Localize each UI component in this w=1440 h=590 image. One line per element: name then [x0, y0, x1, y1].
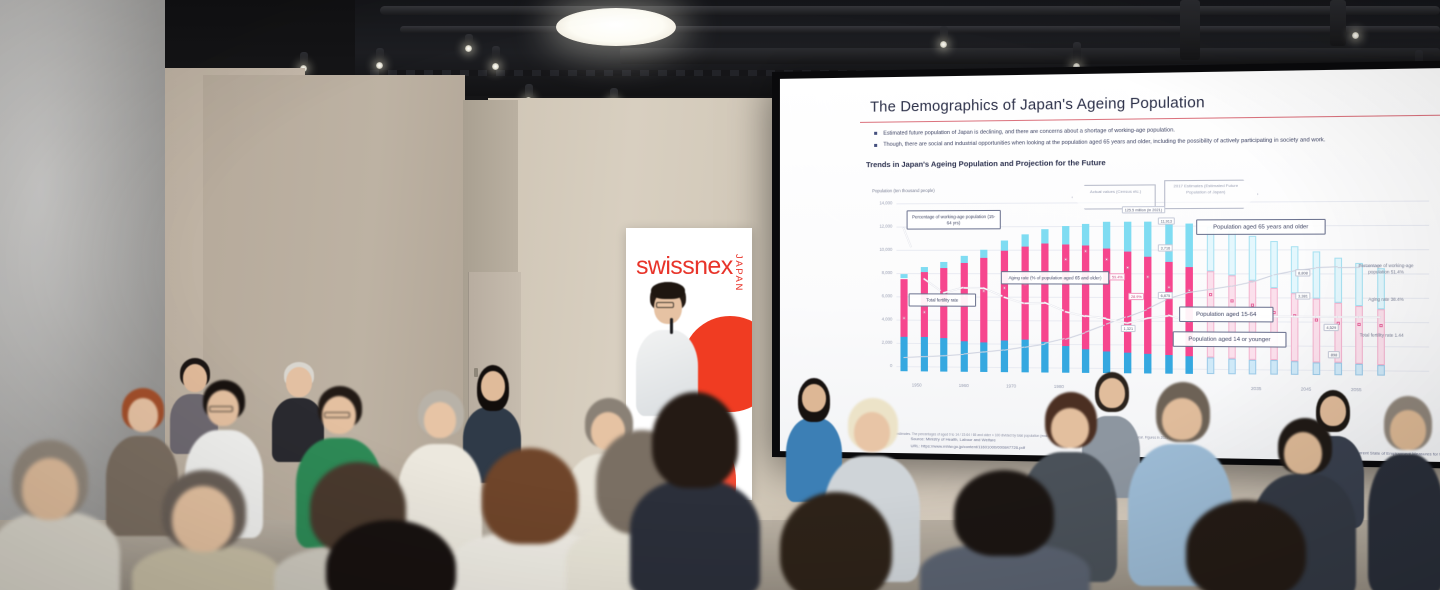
bar-segment-working-age: [1041, 244, 1048, 342]
bar-segment-65-and-older: [1062, 226, 1069, 244]
bar-segment-working-age: [1144, 257, 1151, 354]
conference-room-photo: The Demographics of Japan's Ageing Popul…: [0, 0, 1440, 590]
chart-bar: [981, 249, 988, 372]
track-light-body: [940, 26, 948, 42]
working-age-share-marker: [1167, 286, 1170, 289]
working-age-share-marker: [1105, 258, 1108, 261]
population-chart: Population (ten thousand people) 0 2,000…: [858, 193, 1429, 399]
y-tick: 10,000: [858, 247, 892, 252]
bar-segment-young: [1313, 362, 1321, 375]
callout-aging-rate: Aging rate (% of population aged 65 and …: [1001, 271, 1109, 285]
bar-segment-young: [1062, 346, 1069, 373]
ceiling-pipe: [380, 6, 1440, 15]
chart-bar: [1062, 226, 1069, 372]
bar-segment-young: [960, 342, 967, 372]
bar-segment-young: [900, 337, 907, 371]
tag-old-2065: 3,381: [1295, 292, 1310, 300]
glasses-icon: [324, 412, 350, 418]
chart-y-axis-label: Population (ten thousand people): [872, 188, 935, 193]
bar-segment-65-and-older: [1270, 241, 1278, 288]
audience-member: [1160, 500, 1340, 590]
track-light-icon: [492, 63, 499, 70]
audience-member: [306, 520, 496, 590]
chart-bar: [1377, 268, 1385, 375]
bar-segment-65-and-older: [1082, 224, 1089, 246]
working-age-share-marker: [1209, 293, 1212, 296]
bar-segment-65-and-older: [1021, 234, 1028, 247]
chart-bar: [1313, 251, 1321, 375]
bar-segment-young: [1041, 342, 1048, 373]
bar-segment-young: [1207, 357, 1214, 374]
track-light-icon: [940, 41, 947, 48]
audience-member: [132, 470, 282, 590]
chart-bar: [1207, 227, 1214, 374]
x-tick: 1960: [959, 383, 969, 388]
bar-segment-young: [1082, 349, 1089, 373]
bar-segment-working-age: [1165, 262, 1172, 355]
glasses-icon: [209, 406, 233, 412]
banner-location: JAPAN: [733, 254, 744, 292]
tag-total-2030: 11,913: [1158, 217, 1175, 224]
bar-segment-65-and-older: [900, 274, 907, 279]
ceiling-riser: [1180, 0, 1200, 60]
bar-segment-working-age: [981, 258, 988, 342]
bar-segment-65-and-older: [1144, 222, 1151, 257]
fertility-rate-line: [1337, 316, 1358, 317]
x-tick: 1980: [1054, 384, 1064, 389]
note-aging-rate: Aging rate 38.4%: [1352, 297, 1420, 304]
bar-segment-working-age: [1021, 247, 1028, 340]
callout-15-64: Population aged 15-64: [1179, 306, 1273, 322]
audience-member: [630, 392, 760, 590]
track-light-body: [525, 84, 533, 98]
bar-segment-young: [1165, 355, 1172, 374]
chart-bar: [1186, 223, 1193, 374]
tag-work-2065: 4,529: [1323, 324, 1338, 332]
tag-work-2030: 6,875: [1158, 292, 1173, 299]
audience-member: [0, 440, 120, 590]
chart-bar: [1041, 229, 1048, 372]
bar-segment-65-and-older: [960, 256, 967, 263]
y-tick: 14,000: [858, 200, 892, 205]
bar-segment-young: [1001, 340, 1008, 372]
bar-segment-65-and-older: [920, 267, 927, 273]
working-age-share-marker: [903, 317, 906, 320]
bar-segment-young: [1103, 351, 1110, 373]
bar-segment-young: [1270, 360, 1278, 374]
y-tick: 4,000: [858, 316, 892, 321]
ceiling-riser: [1330, 0, 1346, 46]
bar-segment-working-age: [1270, 288, 1278, 360]
track-light-body: [300, 52, 308, 66]
tag-peak-population: 125.5 million (in 2021): [1122, 206, 1165, 214]
chart-bar: [1291, 246, 1299, 375]
arrow-actual-values-label: Actual values (Census etc.): [1080, 189, 1152, 195]
chart-bar: [1103, 222, 1110, 373]
bar-segment-young: [1355, 364, 1363, 376]
working-age-share-marker: [1379, 324, 1382, 327]
bar-segment-65-and-older: [940, 261, 947, 267]
x-tick: 1950: [912, 382, 922, 387]
tag-young-2030: 1,321: [1121, 325, 1136, 332]
fertility-rate-line: [964, 287, 984, 288]
round-ceiling-light: [556, 8, 676, 46]
chart-bar: [1355, 263, 1363, 375]
working-age-share-marker: [1358, 323, 1361, 326]
bar-segment-young: [1249, 359, 1257, 374]
bar-segment-young: [1186, 356, 1193, 374]
bar-segment-young: [1124, 352, 1131, 373]
working-age-share-marker: [1230, 300, 1233, 303]
x-tick: 2035: [1251, 386, 1262, 391]
arrow-estimates-label: 2017 Estimates (Estimated Future Populat…: [1168, 183, 1243, 195]
slide-bullet-list: Estimated future population of Japan is …: [874, 123, 1440, 151]
chart-title: Trends in Japan's Ageing Population and …: [866, 155, 1440, 169]
fertility-rate-line: [903, 228, 911, 247]
bar-segment-65-and-older: [1249, 236, 1257, 282]
bar-segment-65-and-older: [1186, 223, 1193, 266]
working-age-share-marker: [1084, 250, 1087, 253]
bar-segment-65-and-older: [1124, 221, 1131, 252]
bar-segment-young: [1228, 358, 1236, 374]
audience-member: [920, 470, 1090, 590]
chart-bar: [1144, 222, 1151, 374]
microphone-icon: [670, 318, 673, 334]
bar-segment-working-age: [900, 279, 907, 337]
working-age-share-marker: [983, 290, 986, 293]
tag-working-share: 59.4%: [1109, 273, 1125, 280]
y-tick: 12,000: [858, 224, 892, 229]
bar-segment-young: [920, 336, 927, 371]
y-tick: 6,000: [858, 293, 892, 298]
bar-segment-young: [1291, 361, 1299, 375]
chart-bar: [1082, 224, 1089, 373]
bar-segment-young: [1334, 363, 1342, 375]
working-age-share-marker: [1315, 318, 1318, 321]
track-light-icon: [376, 62, 383, 69]
callout-working-age: Percentage of working-age population (15…: [907, 210, 1001, 230]
track-light-icon: [465, 45, 472, 52]
bar-segment-65-and-older: [1103, 222, 1110, 248]
note-fertility-rate: Total fertility rate 1.44: [1352, 332, 1411, 339]
ceiling-duct: [620, 48, 1440, 64]
bar-segment-65-and-older: [1228, 231, 1236, 276]
y-tick: 0: [858, 363, 892, 368]
track-light-body: [1073, 42, 1081, 64]
bar-segment-65-and-older: [1165, 222, 1172, 262]
bar-segment-young: [1377, 365, 1385, 376]
working-age-share-marker: [1126, 266, 1129, 269]
slide-source: Source: Ministry of Health, Labour and W…: [911, 436, 1025, 451]
track-light-icon: [1352, 32, 1359, 39]
y-tick: 8,000: [858, 270, 892, 275]
track-light-body: [492, 46, 500, 64]
note-working-age-share: Percentage of working-age population 51.…: [1352, 263, 1420, 276]
bar-segment-65-and-older: [1041, 229, 1048, 244]
working-age-share-marker: [1146, 275, 1149, 278]
bar-segment-65-and-older: [981, 249, 988, 258]
tag-aging-share: 28.9%: [1128, 293, 1144, 300]
working-age-share-marker: [1064, 258, 1067, 261]
slide-title: The Demographics of Japan's Ageing Popul…: [870, 91, 1440, 116]
fertility-rate-line: [1024, 302, 1044, 303]
chart-bar: [1001, 240, 1008, 372]
bar-segment-working-age: [1103, 248, 1110, 351]
bar-segment-65-and-older: [1001, 240, 1008, 250]
bar-segment-young: [1144, 353, 1151, 373]
glasses-icon: [656, 302, 674, 308]
tag-young-2065: 898: [1328, 351, 1340, 359]
bar-segment-working-age: [1291, 293, 1299, 361]
fertility-rate-line: [1359, 316, 1381, 317]
y-tick: 2,000: [858, 340, 892, 345]
callout-65-and-older: Population aged 65 years and older: [1196, 219, 1326, 235]
working-age-share-marker: [1003, 286, 1006, 289]
audience-member: [1368, 396, 1440, 590]
fertility-rate-line: [1316, 316, 1337, 317]
tag-old-2030: 3,716: [1158, 244, 1173, 251]
working-age-share-marker: [922, 311, 925, 314]
bar-segment-65-and-older: [1334, 258, 1342, 303]
bar-segment-young: [1021, 340, 1028, 373]
bar-segment-65-and-older: [1313, 251, 1321, 298]
banner-brand: swissnex: [636, 252, 733, 281]
callout-fertility: Total fertility rate: [909, 293, 976, 307]
bar-segment-working-age: [1313, 298, 1321, 362]
audience-member: [760, 492, 920, 590]
tag-total-2065: 8,808: [1295, 269, 1310, 277]
x-tick: 1970: [1006, 383, 1016, 388]
callout-14-or-younger: Population aged 14 or younger: [1173, 331, 1287, 347]
fertility-rate-line: [1295, 316, 1316, 317]
title-divider: [860, 115, 1440, 123]
bar-segment-young: [981, 342, 988, 372]
